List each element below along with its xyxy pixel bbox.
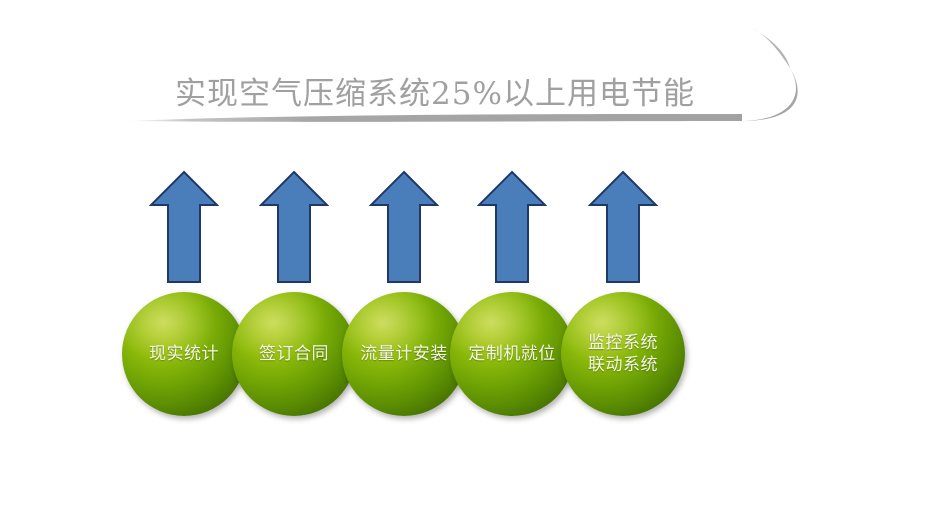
step-label-line: 定制机就位	[468, 343, 556, 365]
up-arrow-icon-1	[149, 170, 219, 284]
up-arrow-icon-3	[369, 170, 439, 284]
up-arrow-icon-2	[259, 170, 329, 284]
up-arrow-icon-5	[588, 170, 658, 284]
step-5[interactable]: 监控系统 联动系统	[553, 0, 693, 529]
process-steps: 现实统计 签订合同 流量计安装	[0, 0, 945, 529]
step-label-line: 签订合同	[259, 343, 329, 365]
slide-canvas: 实现空气压缩系统25%以上用电节能 现实统计 签订合同	[0, 0, 945, 529]
step-label-5: 监控系统 联动系统	[545, 292, 701, 416]
step-label-line: 监控系统	[588, 332, 658, 354]
step-label-line: 联动系统	[588, 354, 658, 376]
up-arrow-icon-4	[477, 170, 547, 284]
step-sphere-5[interactable]: 监控系统 联动系统	[561, 292, 685, 416]
step-label-line: 现实统计	[149, 343, 219, 365]
